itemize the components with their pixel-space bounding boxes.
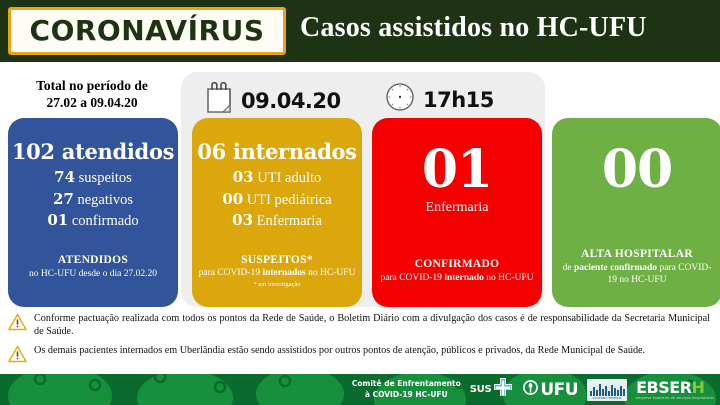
gov-building-icon: GOVERNO FEDERAL xyxy=(587,379,627,401)
card-internados: 06 internados 03 UTI adulto 00 UTI pediá… xyxy=(192,118,362,307)
card-footer-subtitle: para COVID-19 internado no HC-UPU xyxy=(378,273,536,285)
footer-logos: Comitê de Enfrentamento à COVID-19 HC-UF… xyxy=(352,374,714,405)
page-header: CORONAVÍRUS Casos assistidos no HC-UFU xyxy=(0,0,720,62)
breakdown-row: 03 UTI adulto xyxy=(192,167,362,189)
breakdown-label: suspeitos xyxy=(79,170,132,186)
note-item: Os demais pacientes internados em Uberlâ… xyxy=(0,344,720,368)
card-footer-title: ALTA HOSPITALAR xyxy=(558,248,716,262)
breakdown-label: negativos xyxy=(77,192,133,208)
time-value: 17h15 xyxy=(423,88,494,112)
card-footer-subtitle: no HC-UFU desde o dia 27.02.20 xyxy=(14,269,172,281)
card-footer-subtitle: para COVID-19 internados no HC-UFU xyxy=(198,268,356,280)
breakdown-row: 27 negativos xyxy=(8,189,178,211)
period-caption: Total no período de 27.02 a 09.04.20 xyxy=(6,78,178,112)
ebserh-label-a: EBSER xyxy=(636,378,691,397)
calendar-icon xyxy=(205,82,233,119)
breakdown-number: 74 xyxy=(54,168,75,186)
health-cross-icon xyxy=(492,376,514,403)
notes-section: Conforme pactuação realizada com todos o… xyxy=(0,312,720,374)
ebserh-label-b: H xyxy=(692,378,705,397)
note-text: Conforme pactuação realizada com todos o… xyxy=(34,312,710,339)
breakdown-label: Enfermaria xyxy=(257,213,322,229)
card-footer-title: SUSPEITOS* xyxy=(198,254,356,268)
card-footer-subtitle: de paciente confirmado para COVID-19 no … xyxy=(558,263,716,287)
gov-caption: GOVERNO FEDERAL xyxy=(592,396,622,400)
breakdown-number: 03 xyxy=(232,211,253,229)
ebserh-sublabel: empresa brasileira de serviços hospitala… xyxy=(636,396,714,400)
page-footer: Comitê de Enfrentamento à COVID-19 HC-UF… xyxy=(0,374,720,405)
breakdown-row: 00 UTI pediátrica xyxy=(192,189,362,211)
breakdown-number: 00 xyxy=(222,190,243,208)
card-confirmado-location: Enfermaria xyxy=(372,200,542,216)
footer-sub-pre: para COVID-19 xyxy=(380,273,444,283)
footer-sub-post: no HC-UPU xyxy=(484,273,534,283)
card-alta-hospitalar: 00 ALTA HOSPITALAR de paciente confirmad… xyxy=(552,118,720,307)
card-confirmado: 01 Enfermaria CONFIRMADO para COVID-19 i… xyxy=(372,118,542,307)
sus-logo: SUS xyxy=(470,376,515,403)
card-confirmado-footer: CONFIRMADO para COVID-19 internado no HC… xyxy=(372,258,542,285)
card-internados-breakdown: 03 UTI adulto 00 UTI pediátrica 03 Enfer… xyxy=(192,167,362,232)
breakdown-number: 01 xyxy=(47,211,68,229)
ebserh-logo: EBSERH empresa brasileira de serviços ho… xyxy=(636,380,714,400)
breakdown-number: 03 xyxy=(233,168,254,186)
coronavirus-logo-text: CORONAVÍRUS xyxy=(30,17,265,45)
gov-bars xyxy=(590,383,625,396)
card-internados-headline: 06 internados xyxy=(192,140,362,163)
card-footer-title: CONFIRMADO xyxy=(378,258,536,272)
ufu-label: UFU xyxy=(540,380,578,400)
page-title: Casos assistidos no HC-UFU xyxy=(300,12,647,44)
card-atendidos-headline: 102 atendidos xyxy=(8,140,178,163)
breakdown-label: UTI pediátrica xyxy=(247,192,332,208)
committee-label: Comitê de Enfrentamento à COVID-19 HC-UF… xyxy=(352,379,461,399)
breakdown-label: confirmado xyxy=(72,213,139,229)
note-item: Conforme pactuação realizada com todos o… xyxy=(0,312,720,339)
card-footer-note: * em investigação xyxy=(198,281,356,289)
warning-icon xyxy=(8,345,27,368)
coronavirus-logo-box: CORONAVÍRUS xyxy=(8,7,286,55)
card-atendidos-breakdown: 74 suspeitos 27 negativos 01 confirmado xyxy=(8,167,178,232)
date-stamp: 09.04.20 xyxy=(205,82,341,119)
footer-sub-pre: para COVID-19 xyxy=(199,268,263,278)
committee-line1: Comitê de Enfrentamento xyxy=(352,379,461,389)
time-stamp: 17h15 xyxy=(385,82,494,117)
note-text: Os demais pacientes internados em Uberlâ… xyxy=(34,344,710,357)
footer-sub-bold: paciente confirmado xyxy=(574,263,657,273)
ufu-torch-icon xyxy=(523,379,538,401)
card-atendidos-footer: ATENDIDOS no HC-UFU desde o dia 27.02.20 xyxy=(8,254,178,281)
date-value: 09.04.20 xyxy=(241,89,341,113)
footer-sub-bold: internados xyxy=(262,268,305,278)
sus-label: SUS xyxy=(470,384,492,395)
ebserh-label: EBSERH xyxy=(636,380,714,396)
card-alta-count: 00 xyxy=(552,144,720,196)
ufu-logo: UFU xyxy=(523,379,578,401)
period-caption-line2: 27.02 a 09.04.20 xyxy=(6,95,178,112)
period-caption-line1: Total no período de xyxy=(6,78,178,95)
breakdown-label: UTI adulto xyxy=(257,170,321,186)
clock-icon xyxy=(385,82,415,117)
card-footer-title: ATENDIDOS xyxy=(14,254,172,268)
committee-line2: à COVID-19 HC-UFU xyxy=(352,390,461,400)
breakdown-number: 27 xyxy=(53,190,74,208)
breakdown-row: 03 Enfermaria xyxy=(192,210,362,232)
breakdown-row: 01 confirmado xyxy=(8,210,178,232)
footer-sub-pre: de xyxy=(563,263,574,273)
warning-icon xyxy=(8,313,27,336)
breakdown-row: 74 suspeitos xyxy=(8,167,178,189)
card-internados-footer: SUSPEITOS* para COVID-19 internados no H… xyxy=(192,254,362,289)
footer-sub-post: no HC-UFU xyxy=(306,268,356,278)
card-atendidos: 102 atendidos 74 suspeitos 27 negativos … xyxy=(8,118,178,307)
card-confirmado-count: 01 xyxy=(372,144,542,196)
card-alta-footer: ALTA HOSPITALAR de paciente confirmado p… xyxy=(552,248,720,287)
footer-sub-bold: internado xyxy=(444,273,484,283)
